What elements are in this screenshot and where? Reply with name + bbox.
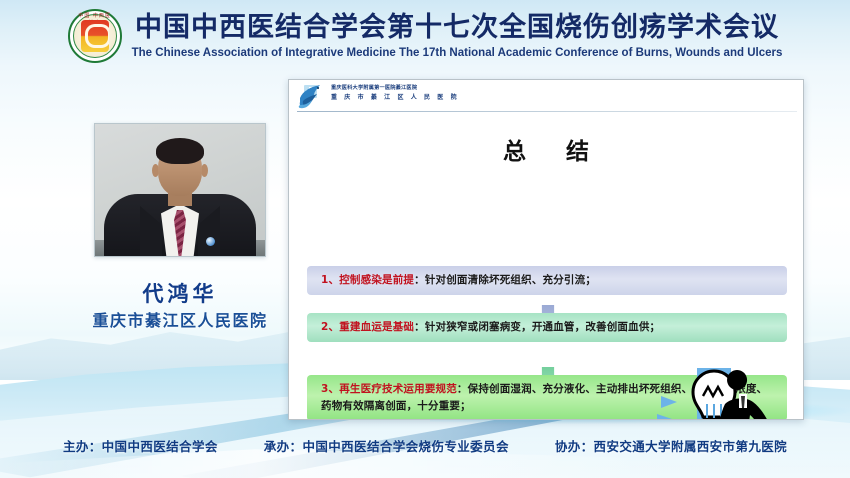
summary-point-2: 2、重建血运是基础：针对狭窄或闭塞病变，开通血管，改善创面血供； [307,313,787,342]
slide-header: 重庆医科大学附属第一医院綦江医院 重 庆 市 綦 江 区 人 民 医 院 [289,80,803,114]
conference-broadcast-screen: 中国 中西医结合 中国中西医结合学会第十七次全国烧伤创疡学术会议 The Chi… [0,0,850,478]
credit-undertaker: 承办：中国中西医结合学会烧伤专业委员会 [264,436,509,455]
slide-header-divider [297,111,797,112]
speaker-lapel-badge [206,237,215,246]
conference-header: 中国 中西医结合 中国中西医结合学会第十七次全国烧伤创疡学术会议 The Chi… [0,0,850,72]
conference-title-english: The Chinese Association of Integrative M… [132,47,783,59]
summary-point-2-lead: 重建血运是基础 [339,321,414,333]
slide-title: 总 结 [289,132,803,166]
credit-coorganizer: 协办：西安交通大学附属西安市第九医院 [555,436,787,455]
dove-cross-logo-icon [296,83,326,111]
hospital-name-primary: 重庆医科大学附属第一医院綦江医院 [331,85,459,93]
summary-point-3-index: 3、 [321,383,339,395]
summary-point-1-index: 1、 [321,274,339,286]
summary-point-2-index: 2、 [321,321,339,333]
summary-point-2-body: ：针对狭窄或闭塞病变，开通血管，改善创面血供； [414,321,660,333]
conference-title-block: 中国中西医结合学会第十七次全国烧伤创疡学术会议 The Chinese Asso… [132,13,783,59]
footer-credits: 主办：中国中西医结合学会 承办：中国中西医结合学会烧伤专业委员会 协办：西安交通… [0,436,850,455]
conference-title-chinese: 中国中西医结合学会第十七次全国烧伤创疡学术会议 [135,13,779,43]
summary-point-1-lead: 控制感染是前提 [339,274,414,286]
businessman-with-lightbulb-icon [651,362,779,420]
hospital-name-secondary: 重 庆 市 綦 江 区 人 民 医 院 [331,93,459,102]
presentation-slide[interactable]: 重庆医科大学附属第一医院綦江医院 重 庆 市 綦 江 区 人 民 医 院 总 结… [288,79,804,420]
credit-organizer: 主办：中国中西医结合学会 [63,436,218,455]
emblem-core-symbol [81,20,109,52]
speaker-hair [156,138,204,164]
summary-point-3-lead: 再生医疗技术运用要规范 [339,383,457,395]
hospital-name-block: 重庆医科大学附属第一医院綦江医院 重 庆 市 綦 江 区 人 民 医 院 [331,85,459,102]
summary-point-1-body: ：针对创面清除坏死组织、充分引流； [414,274,596,286]
association-emblem-icon: 中国 中西医结合 [68,9,122,63]
speaker-video-feed[interactable] [94,123,266,257]
speaker-ear-right [201,164,208,177]
summary-point-1: 1、控制感染是前提：针对创面清除坏死组织、充分引流； [307,266,787,295]
